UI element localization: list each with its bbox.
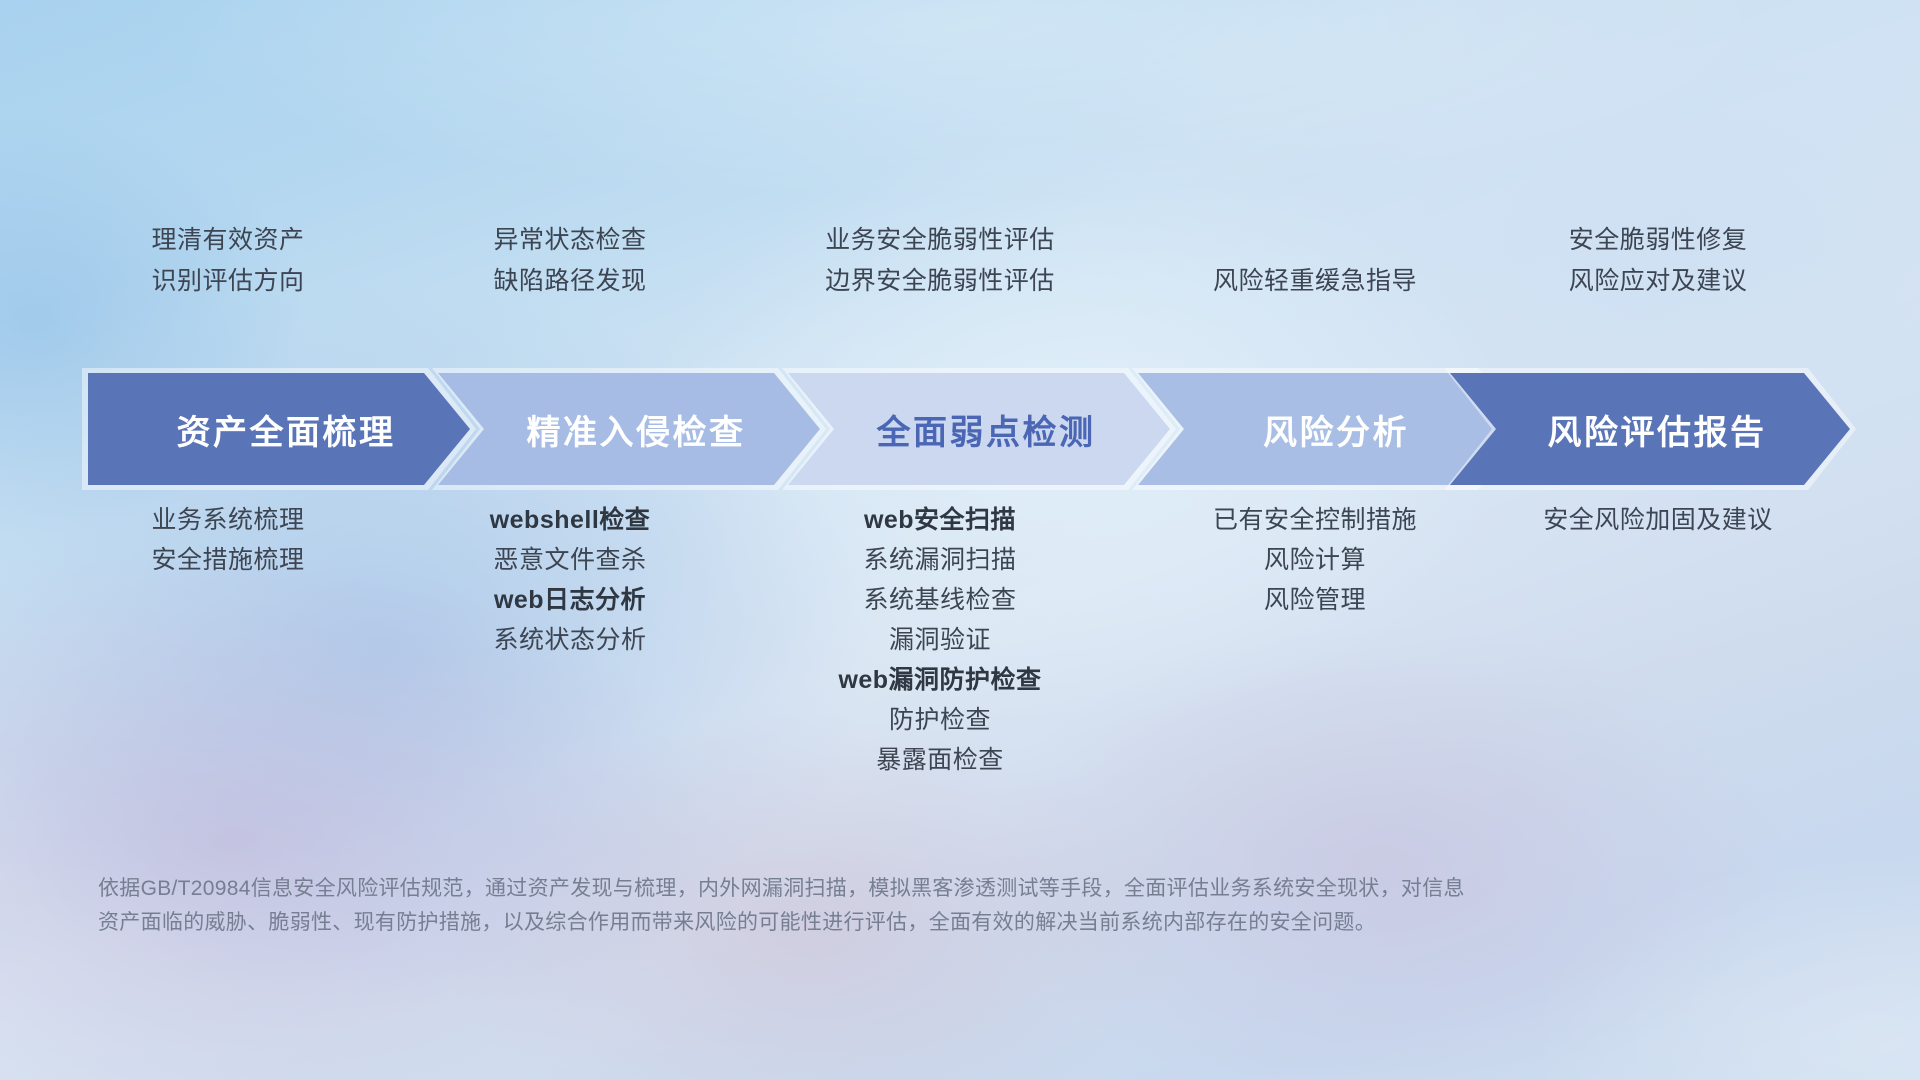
footer-note: 依据GB/T20984信息安全风险评估规范，通过资产发现与梳理，内外网漏洞扫描，…: [98, 872, 1648, 940]
detail-item: 风险计算: [1264, 548, 1366, 573]
detail-item: 系统漏洞扫描: [863, 548, 1016, 573]
detail-item: web日志分析: [494, 588, 646, 613]
chevron-asset-inventory[interactable]: 资产全面梳理: [88, 373, 470, 485]
caption-text: 缺陷路径发现: [493, 269, 646, 294]
chevron-label-asset-inventory: 资产全面梳理: [177, 405, 396, 454]
caption-text: 风险应对及建议: [1569, 269, 1748, 294]
details-risk-report: 安全风险加固及建议: [1358, 508, 1920, 533]
detail-item: 安全风险加固及建议: [1543, 508, 1773, 533]
chevron-weakness-detection[interactable]: 全面弱点检测: [788, 373, 1170, 485]
chevron-label-risk-report: 风险评估报告: [1548, 405, 1767, 454]
detail-item: 防护检查: [889, 708, 991, 733]
chevron-band: 资产全面梳理精准入侵检查全面弱点检测风险分析风险评估报告: [0, 373, 1920, 485]
detail-item: 风险管理: [1264, 588, 1366, 613]
detail-item: 漏洞验证: [889, 628, 991, 653]
process-diagram: 理清有效资产识别评估方向异常状态检查缺陷路径发现业务安全脆弱性评估边界安全脆弱性…: [0, 0, 1920, 1080]
detail-item: 系统基线检查: [863, 588, 1016, 613]
detail-item: web漏洞防护检查: [838, 668, 1041, 693]
caption-text: 异常状态检查: [493, 228, 646, 253]
chevron-risk-report[interactable]: 风险评估报告: [1450, 373, 1850, 485]
detail-item: webshell检查: [490, 508, 651, 533]
detail-item: 恶意文件查杀: [493, 548, 646, 573]
captions-risk-report: 安全脆弱性修复风险应对及建议: [1358, 228, 1920, 294]
footer-line-2: 资产面临的威胁、脆弱性、现有防护措施，以及综合作用而带来风险的可能性进行评估，全…: [98, 906, 1648, 940]
footer-line-1: 依据GB/T20984信息安全风险评估规范，通过资产发现与梳理，内外网漏洞扫描，…: [98, 872, 1648, 906]
chevron-label-weakness-detection: 全面弱点检测: [877, 405, 1096, 454]
detail-item: 暴露面检查: [876, 748, 1004, 773]
detail-item: 系统状态分析: [493, 628, 646, 653]
chevron-intrusion-check[interactable]: 精准入侵检查: [438, 373, 820, 485]
chevron-label-risk-analysis: 风险分析: [1263, 405, 1409, 454]
detail-item: web安全扫描: [864, 508, 1016, 533]
chevron-label-intrusion-check: 精准入侵检查: [527, 405, 746, 454]
caption-text: 安全脆弱性修复: [1569, 228, 1748, 253]
